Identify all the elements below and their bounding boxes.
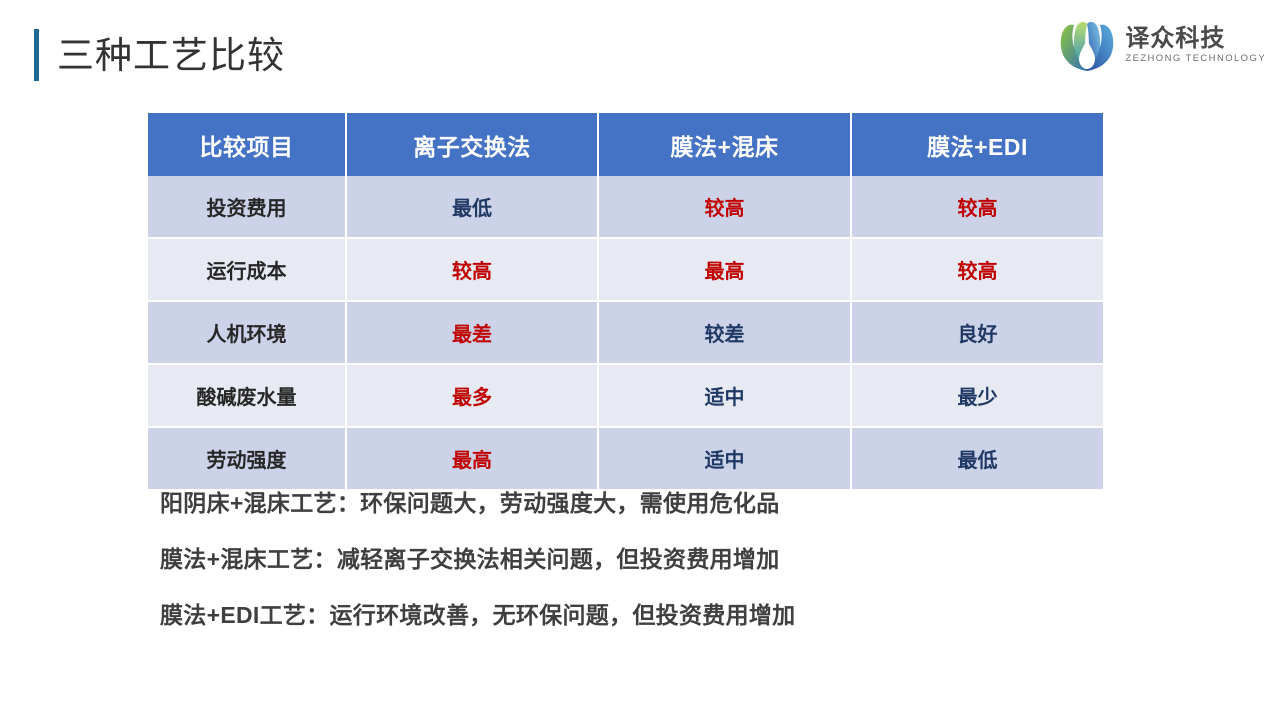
table-cell: 适中 [599, 365, 852, 428]
note-line-membrane-edi: 膜法+EDI工艺：运行环境改善，无环保问题，但投资费用增加 [160, 604, 1160, 627]
logo-name-en: ZEZHONG TECHNOLOGY [1125, 53, 1266, 64]
column-header-ion-exchange: 离子交换法 [347, 113, 599, 176]
row-label: 酸碱废水量 [148, 365, 347, 428]
note-line-membrane-mixedbed: 膜法+混床工艺：减轻离子交换法相关问题，但投资费用增加 [160, 548, 1160, 571]
logo-wordmark: 译众科技 ZEZHONG TECHNOLOGY [1125, 26, 1266, 65]
note-line-ion-exchange: 阳阴床+混床工艺：环保问题大，劳动强度大，需使用危化品 [160, 492, 1160, 515]
company-logo: 译众科技 ZEZHONG TECHNOLOGY [1056, 14, 1266, 76]
table-row: 酸碱废水量 最多 适中 最少 [148, 365, 1103, 428]
table-cell: 最差 [347, 302, 599, 365]
leaf-droplet-icon [1056, 16, 1118, 74]
table-cell: 较高 [599, 176, 852, 239]
table-row: 劳动强度 最高 适中 最低 [148, 428, 1103, 489]
table-row: 人机环境 最差 较差 良好 [148, 302, 1103, 365]
table-cell: 最多 [347, 365, 599, 428]
comparison-table-container: 比较项目 离子交换法 膜法+混床 膜法+EDI 投资费用 最低 较高 较高 运行… [148, 113, 1103, 489]
table-cell: 较高 [852, 176, 1103, 239]
summary-notes: 阳阴床+混床工艺：环保问题大，劳动强度大，需使用危化品 膜法+混床工艺：减轻离子… [160, 492, 1160, 627]
table-cell: 较高 [347, 239, 599, 302]
table-cell: 最低 [852, 428, 1103, 489]
table-cell: 适中 [599, 428, 852, 489]
title-accent-bar [34, 29, 39, 81]
page-title-text: 三种工艺比较 [57, 37, 285, 74]
table-cell: 最少 [852, 365, 1103, 428]
table-cell: 较高 [852, 239, 1103, 302]
row-label: 人机环境 [148, 302, 347, 365]
table-row: 投资费用 最低 较高 较高 [148, 176, 1103, 239]
table-cell: 良好 [852, 302, 1103, 365]
row-label: 运行成本 [148, 239, 347, 302]
table-body: 投资费用 最低 较高 较高 运行成本 较高 最高 较高 人机环境 最差 较差 良… [148, 176, 1103, 489]
page-title: 三种工艺比较 [34, 28, 285, 82]
table-header: 比较项目 离子交换法 膜法+混床 膜法+EDI [148, 113, 1103, 176]
table-cell: 较差 [599, 302, 852, 365]
logo-name-cn: 译众科技 [1125, 26, 1266, 51]
table-cell: 最高 [347, 428, 599, 489]
column-header-membrane-edi: 膜法+EDI [852, 113, 1103, 176]
table-row: 运行成本 较高 最高 较高 [148, 239, 1103, 302]
table-cell: 最低 [347, 176, 599, 239]
table-header-row: 比较项目 离子交换法 膜法+混床 膜法+EDI [148, 113, 1103, 176]
column-header-membrane-mixedbed: 膜法+混床 [599, 113, 852, 176]
comparison-table: 比较项目 离子交换法 膜法+混床 膜法+EDI 投资费用 最低 较高 较高 运行… [148, 113, 1103, 489]
row-label: 投资费用 [148, 176, 347, 239]
column-header-criteria: 比较项目 [148, 113, 347, 176]
table-cell: 最高 [599, 239, 852, 302]
row-label: 劳动强度 [148, 428, 347, 489]
